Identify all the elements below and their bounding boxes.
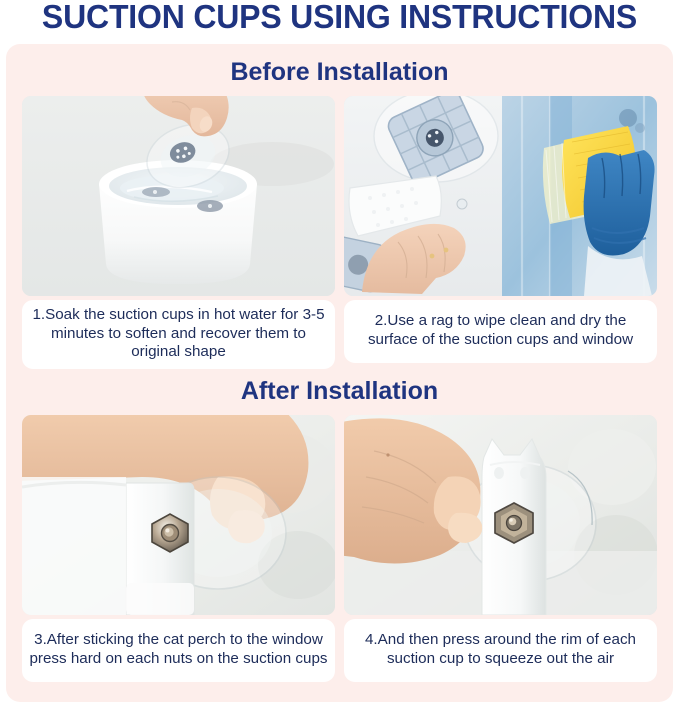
section-header-after: After Installation (6, 376, 673, 406)
step-1-caption: 1.Soak the suction cups in hot water for… (22, 300, 335, 369)
step-4-caption: 4.And then press around the rim of each … (344, 619, 657, 682)
step-3-photo (22, 415, 335, 615)
section-header-before: Before Installation (6, 57, 673, 87)
step-2-caption: 2.Use a rag to wipe clean and dry the su… (344, 300, 657, 363)
step-4-photo (344, 415, 657, 615)
step-card-4: 4.And then press around the rim of each … (344, 415, 657, 682)
wipe-cup-and-window-illustration (344, 96, 657, 296)
instruction-poster: SUCTION CUPS USING INSTRUCTIONS Before I… (0, 0, 679, 708)
pressing-rim-cat-cup-illustration (344, 415, 657, 615)
pressing-nut-illustration (22, 415, 335, 615)
step-card-3: 3.After sticking the cat perch to the wi… (22, 415, 335, 682)
page-title: SUCTION CUPS USING INSTRUCTIONS (10, 0, 669, 37)
bowl-of-water-illustration (22, 96, 335, 296)
steps-row-before: 1.Soak the suction cups in hot water for… (6, 96, 673, 369)
step-card-1: 1.Soak the suction cups in hot water for… (22, 96, 335, 369)
step-card-2: 2.Use a rag to wipe clean and dry the su… (344, 96, 657, 369)
step-1-photo (22, 96, 335, 296)
step-2-photo (344, 96, 657, 296)
step-3-caption: 3.After sticking the cat perch to the wi… (22, 619, 335, 682)
instructions-panel: Before Installation (6, 44, 673, 702)
steps-row-after: 3.After sticking the cat perch to the wi… (6, 415, 673, 682)
